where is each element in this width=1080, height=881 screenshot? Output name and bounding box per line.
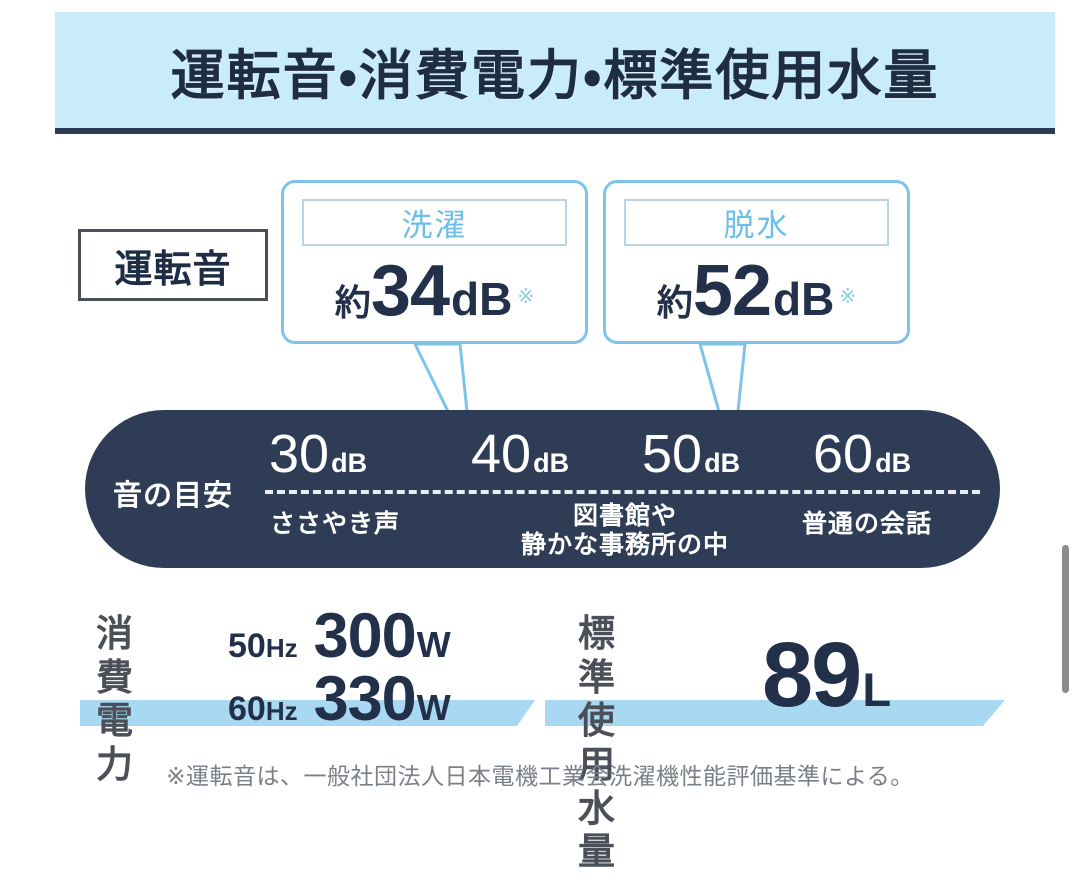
sound-scale-tick-60-number: 60 bbox=[813, 427, 873, 481]
noise-card-wash: 洗濯 約 34 dB ※ bbox=[281, 180, 588, 344]
noise-card-wash-mode-label: 洗濯 bbox=[402, 200, 468, 245]
power-row-60hz-freq-value: 60 bbox=[228, 690, 266, 728]
water-value-number: 89 bbox=[762, 636, 860, 714]
header-band: 運転音・消費電力・標準使用水量 bbox=[55, 12, 1055, 128]
sound-scale-desc-conversation: 普通の会話 bbox=[757, 510, 977, 539]
power-row-50hz-unit: W bbox=[417, 624, 451, 666]
noise-section-label: 運転音 bbox=[78, 229, 268, 301]
power-row-60hz: 60Hz 330 W bbox=[228, 668, 451, 731]
noise-card-wash-footnote-mark: ※ bbox=[517, 284, 534, 309]
scrollbar-thumb[interactable] bbox=[1062, 545, 1069, 693]
noise-card-wash-number: 34 bbox=[371, 255, 449, 327]
sound-scale-tick-40: 40 dB bbox=[471, 427, 569, 481]
page-title: 運転音・消費電力・標準使用水量 bbox=[171, 31, 940, 110]
footnote-text: ※運転音は、一般社団法人日本電機工業会洗濯機性能評価基準による。 bbox=[0, 757, 1080, 791]
power-row-60hz-value: 330 bbox=[314, 668, 416, 731]
power-row-60hz-freq-unit: Hz bbox=[266, 696, 298, 726]
noise-card-spin-approx: 約 bbox=[657, 274, 693, 326]
sound-scale-dashed-line bbox=[265, 490, 980, 494]
sound-scale-axis-label: 音の目安 bbox=[113, 472, 233, 514]
sound-scale-tick-50-unit: dB bbox=[704, 448, 740, 479]
noise-card-wash-value: 約 34 dB ※ bbox=[284, 255, 585, 337]
sound-scale-tick-30-unit: dB bbox=[331, 448, 367, 479]
power-row-50hz-freq: 50Hz bbox=[228, 627, 298, 666]
noise-card-spin-value: 約 52 dB ※ bbox=[606, 255, 907, 337]
header-divider bbox=[55, 128, 1055, 134]
noise-card-wash-approx: 約 bbox=[335, 274, 371, 326]
spec-infographic: 運転音・消費電力・標準使用水量 運転音 洗濯 約 34 dB ※ 脱水 約 52… bbox=[0, 0, 1080, 881]
sound-scale-tick-60-unit: dB bbox=[875, 448, 911, 479]
sound-scale-tick-40-unit: dB bbox=[533, 448, 569, 479]
water-value-unit: L bbox=[862, 662, 891, 717]
power-row-50hz-freq-unit: Hz bbox=[266, 633, 298, 663]
scrollbar-track[interactable] bbox=[1061, 0, 1071, 881]
noise-card-spin-footnote-mark: ※ bbox=[839, 284, 856, 309]
sound-scale-tick-60: 60 dB bbox=[813, 427, 911, 481]
noise-card-spin-number: 52 bbox=[693, 255, 771, 327]
noise-card-spin: 脱水 約 52 dB ※ bbox=[603, 180, 910, 344]
water-value: 89 L bbox=[762, 636, 891, 717]
noise-card-wash-mode-box: 洗濯 bbox=[302, 199, 567, 246]
sound-scale-tick-40-number: 40 bbox=[471, 427, 531, 481]
power-row-50hz-value: 300 bbox=[314, 605, 416, 668]
power-row-50hz-freq-value: 50 bbox=[228, 627, 266, 665]
noise-card-spin-mode-box: 脱水 bbox=[624, 199, 889, 246]
power-row-60hz-unit: W bbox=[417, 687, 451, 729]
noise-section-label-text: 運転音 bbox=[114, 238, 231, 293]
sound-scale-desc-library: 図書館や 静かな事務所の中 bbox=[475, 502, 775, 560]
sound-scale-tick-30-number: 30 bbox=[269, 427, 329, 481]
sound-scale-desc-whisper: ささやき声 bbox=[235, 510, 435, 539]
water-title: 標準 使用水量 bbox=[578, 612, 616, 874]
sound-scale-tick-30: 30 dB bbox=[269, 427, 367, 481]
sound-scale-tick-50-number: 50 bbox=[642, 427, 702, 481]
sound-scale-tick-50: 50 dB bbox=[642, 427, 740, 481]
noise-card-spin-unit: dB bbox=[773, 272, 834, 326]
power-row-50hz: 50Hz 300 W bbox=[228, 605, 451, 668]
sound-scale-bar: 音の目安 30 dB 40 dB 50 dB 60 dB ささやき声 図書館や … bbox=[85, 410, 1000, 568]
noise-card-spin-mode-label: 脱水 bbox=[724, 200, 790, 245]
noise-card-wash-unit: dB bbox=[451, 272, 512, 326]
power-row-60hz-freq: 60Hz bbox=[228, 690, 298, 729]
